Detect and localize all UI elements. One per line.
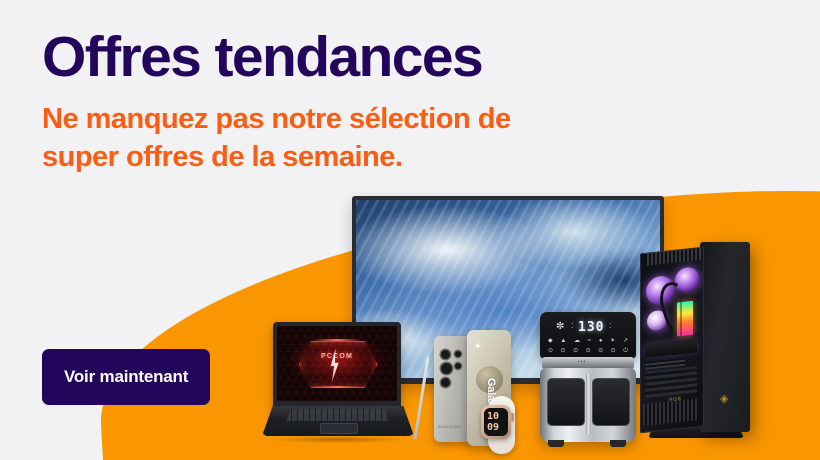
preset-icon: ✶	[610, 338, 615, 344]
laptop-brand-text: PCCOM	[321, 353, 353, 360]
laptop-accent-bar-bottom	[313, 386, 361, 388]
watch-time-hours: 10	[487, 412, 499, 422]
display-colon-right: :	[609, 321, 612, 330]
display-colon-left: :	[571, 321, 574, 330]
air-fryer-temperature-display: 130	[578, 320, 604, 335]
air-fryer-body	[540, 368, 636, 442]
laptop-screen: PCCOM	[277, 326, 397, 401]
air-fryer-basket-right	[592, 378, 630, 426]
tower-front-panel: ◈	[700, 242, 750, 432]
watch-time-minutes: 09	[487, 423, 499, 433]
camera-flash-icon	[455, 363, 461, 369]
product-smartwatch: 10 09	[474, 396, 530, 456]
air-fryer-divider	[586, 374, 591, 434]
preset-icon: ▲	[560, 338, 566, 344]
preset-icon: ↗	[623, 338, 628, 344]
sparkle-icon: ✦	[474, 342, 482, 351]
air-fryer-preset-icons-row2: ⊙ ⊙ ⊙ ⊙ ⊙ ⊙ ⏻	[548, 348, 628, 354]
banner-subtitle: Ne manquez pas notre sélection de super …	[42, 100, 642, 177]
laptop-accent-bar-top	[313, 339, 361, 341]
preset-icon: ●	[599, 338, 603, 344]
fan-icon: ✼	[556, 322, 564, 332]
tower-power-supply-shroud	[645, 366, 697, 397]
preset-icon: ⊙	[548, 348, 553, 354]
laptop-lid: PCCOM	[273, 322, 401, 408]
tower-graphics-card	[645, 338, 697, 357]
promo-banner: ◈ RGB ✼ : 130 : ◆ ▲ ☁ ≈	[0, 0, 820, 460]
camera-lens-icon	[441, 378, 450, 387]
air-fryer-foot-left	[548, 440, 564, 447]
preset-icon: ⊙	[598, 348, 603, 354]
watch-crown	[510, 413, 514, 422]
voir-maintenant-button[interactable]: Voir maintenant	[42, 349, 210, 405]
air-fryer-brand-mark: •••	[578, 359, 586, 365]
camera-sensor-icon	[455, 351, 461, 357]
tower-rgb-ram	[677, 301, 693, 337]
preset-icon: ◆	[548, 338, 553, 344]
air-fryer-basket-left	[547, 378, 585, 426]
tower-glass-side: RGB	[640, 247, 704, 434]
laptop-keyboard	[286, 409, 389, 421]
product-gaming-laptop: PCCOM	[262, 322, 414, 442]
subtitle-line-1: Ne manquez pas notre sélection de	[42, 103, 511, 135]
air-fryer-preset-icons-row1: ◆ ▲ ☁ ≈ ● ✶ ↗	[548, 338, 628, 344]
camera-lens-icon	[441, 363, 452, 374]
product-air-fryer: ✼ : 130 : ◆ ▲ ☁ ≈ ● ✶ ↗ ⊙ ⊙ ⊙ ⊙ ⊙ ⊙ ⏻	[538, 312, 638, 452]
watch-case: 10 09	[481, 405, 511, 439]
preset-icon: ⊙	[611, 348, 616, 354]
preset-icon: ⊙	[573, 348, 578, 354]
air-fryer-foot-right	[610, 440, 626, 447]
preset-icon: ⊙	[586, 348, 591, 354]
banner-copy: Offres tendances Ne manquez pas notre sé…	[42, 28, 642, 176]
tower-top-mesh	[647, 247, 701, 266]
laptop-shadow	[271, 436, 405, 443]
subtitle-line-2: super offres de la semaine.	[42, 141, 402, 173]
phone-brand-label: SAMSUNG	[438, 424, 462, 429]
preset-icon: ≈	[588, 338, 591, 344]
preset-icon: ☁	[574, 338, 580, 344]
air-fryer-control-panel: ✼ : 130 : ◆ ▲ ☁ ≈ ● ✶ ↗ ⊙ ⊙ ⊙ ⊙ ⊙ ⊙ ⏻	[540, 312, 636, 358]
laptop-trackpad	[320, 423, 358, 434]
tower-logo-icon: ◈	[720, 394, 728, 405]
product-gaming-tower: ◈ RGB	[640, 228, 760, 440]
power-icon: ⏻	[623, 348, 628, 354]
page-title: Offres tendances	[42, 28, 642, 88]
camera-lens-icon	[441, 350, 450, 359]
watch-face: 10 09	[484, 408, 508, 436]
preset-icon: ⊙	[561, 348, 566, 354]
